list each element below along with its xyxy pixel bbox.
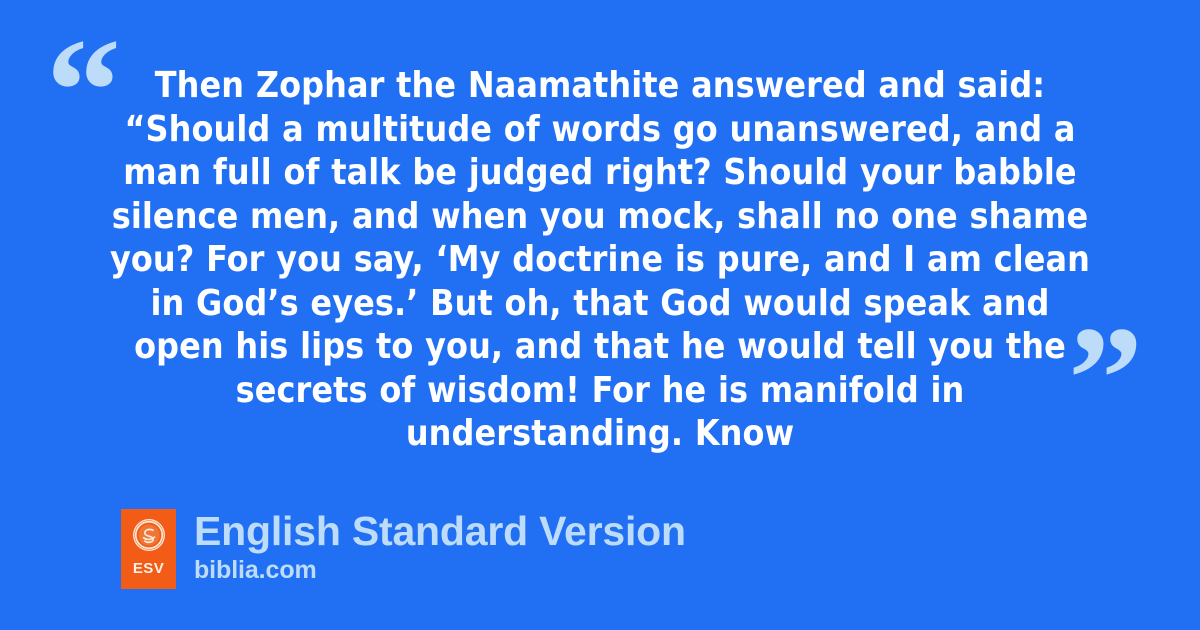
quote-card: “ Then Zophar the Naamathite answered an… xyxy=(0,0,1200,630)
site-url-label: biblia.com xyxy=(194,556,686,584)
esv-logo-badge: ESV xyxy=(121,509,176,589)
footer-text-block: English Standard Version biblia.com xyxy=(194,509,686,584)
closing-quote-mark: ” xyxy=(1068,304,1141,454)
attribution-footer: ESV English Standard Version biblia.com xyxy=(121,509,686,589)
bible-version-name: English Standard Version xyxy=(194,509,686,553)
logo-abbreviation-label: ESV xyxy=(133,561,164,576)
quote-text: Then Zophar the Naamathite answered and … xyxy=(108,64,1092,456)
esv-seal-icon xyxy=(132,518,166,552)
